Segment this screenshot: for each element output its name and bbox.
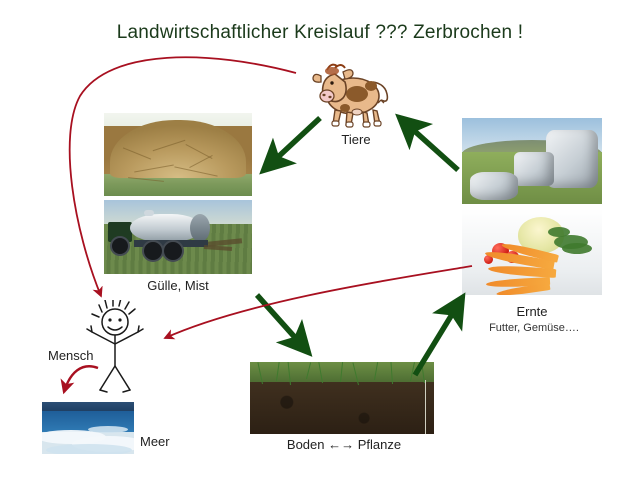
arrow-ernte-to-tiere: [400, 118, 458, 170]
node-label-mensch: Mensch: [48, 348, 94, 363]
arrow-ernte-to-mensch: [165, 266, 472, 338]
slurry-tanker-photo: [104, 200, 252, 274]
soil-profile-photo: [250, 362, 434, 434]
silage-bales-photo: [462, 118, 602, 204]
manure-heap-photo: [104, 113, 252, 196]
vegetables-photo: [462, 209, 602, 295]
ocean-waves-photo: [42, 402, 134, 454]
node-label-tiere: Tiere: [318, 132, 394, 147]
arrow-guelle-to-boden: [257, 295, 308, 352]
node-sublabel-ernte: Futter, Gemüse….: [472, 322, 596, 334]
cow-illustration: [305, 52, 405, 130]
node-label-boden: Boden ←→ Pflanze: [258, 437, 430, 452]
node-label-guelle: Gülle, Mist: [118, 278, 238, 293]
diagram-canvas: Landwirtschaftlicher Kreislauf ??? Zerbr…: [0, 0, 640, 480]
page-title: Landwirtschaftlicher Kreislauf ??? Zerbr…: [0, 22, 640, 44]
node-label-ernte: Ernte: [482, 304, 582, 319]
stick-figure-person: [78, 300, 152, 394]
node-label-meer: Meer: [140, 434, 170, 449]
